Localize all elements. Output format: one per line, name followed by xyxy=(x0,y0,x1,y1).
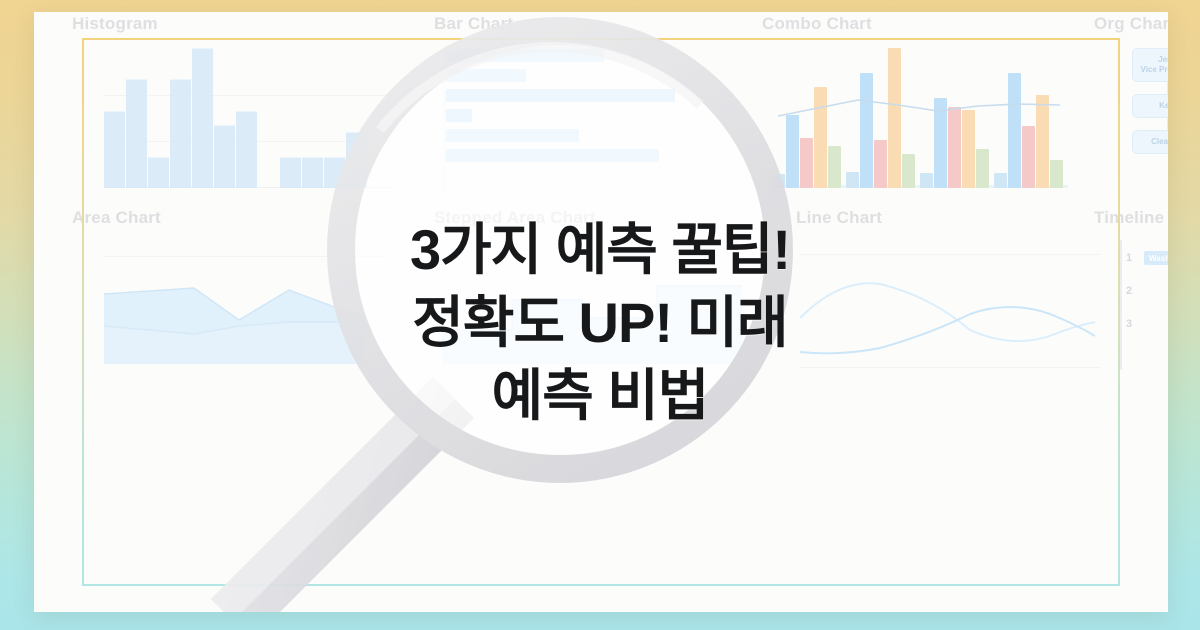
panel-title-histogram: Histogram xyxy=(72,14,402,34)
combo-chart-plot xyxy=(768,48,1068,188)
org-node: Kent xyxy=(1132,94,1168,118)
org-node: Jerry Vice President xyxy=(1132,48,1168,82)
histogram-bar xyxy=(192,48,213,188)
panel-combo-chart: Combo Chart xyxy=(762,14,1092,204)
bar-chart-bar xyxy=(446,109,472,122)
histogram-bar xyxy=(236,111,257,188)
combo-line-overlay xyxy=(768,48,1068,188)
histogram-bar xyxy=(214,125,235,188)
bar-chart-bar xyxy=(446,129,579,142)
histogram-bar xyxy=(280,157,301,188)
panel-org-chart: Org Chart Jerry Vice President Kent Clea… xyxy=(1094,14,1168,204)
org-node: Cleaners xyxy=(1132,130,1168,154)
panel-bar-chart: Bar Chart xyxy=(434,14,754,204)
histogram-bar xyxy=(324,157,345,188)
headline-line-1: 3가지 예측 꿀팁! xyxy=(0,214,1200,287)
org-node-label: Jerry Vice President xyxy=(1141,55,1169,75)
histogram-bar xyxy=(126,79,147,188)
bar-chart-bar xyxy=(446,89,675,102)
histogram-bar xyxy=(148,157,169,188)
bar-chart-plot xyxy=(444,46,744,194)
histogram-bar xyxy=(104,111,125,188)
bar-chart-bar xyxy=(446,149,659,162)
panel-title-bar-chart: Bar Chart xyxy=(434,14,754,34)
org-node-label: Kent xyxy=(1159,101,1168,111)
headline-line-2: 정확도 UP! 미래 xyxy=(0,287,1200,360)
panel-title-combo-chart: Combo Chart xyxy=(762,14,1092,34)
poster-canvas: Histogram xyxy=(0,0,1200,630)
bar-chart-bar xyxy=(446,49,604,62)
org-chart-plot: Jerry Vice President Kent Cleaners xyxy=(1122,48,1168,198)
panel-histogram: Histogram xyxy=(72,14,402,204)
histogram-bar xyxy=(170,79,191,188)
headline-line-3: 예측 비법 xyxy=(0,360,1200,433)
histogram-plot xyxy=(104,48,394,188)
histogram-bar xyxy=(346,132,367,188)
org-node-label: Cleaners xyxy=(1151,137,1168,147)
histogram-bar xyxy=(302,157,323,188)
panel-title-org-chart: Org Chart xyxy=(1094,14,1168,34)
headline: 3가지 예측 꿀팁! 정확도 UP! 미래 예측 비법 xyxy=(0,214,1200,432)
bar-chart-bar xyxy=(446,69,526,82)
